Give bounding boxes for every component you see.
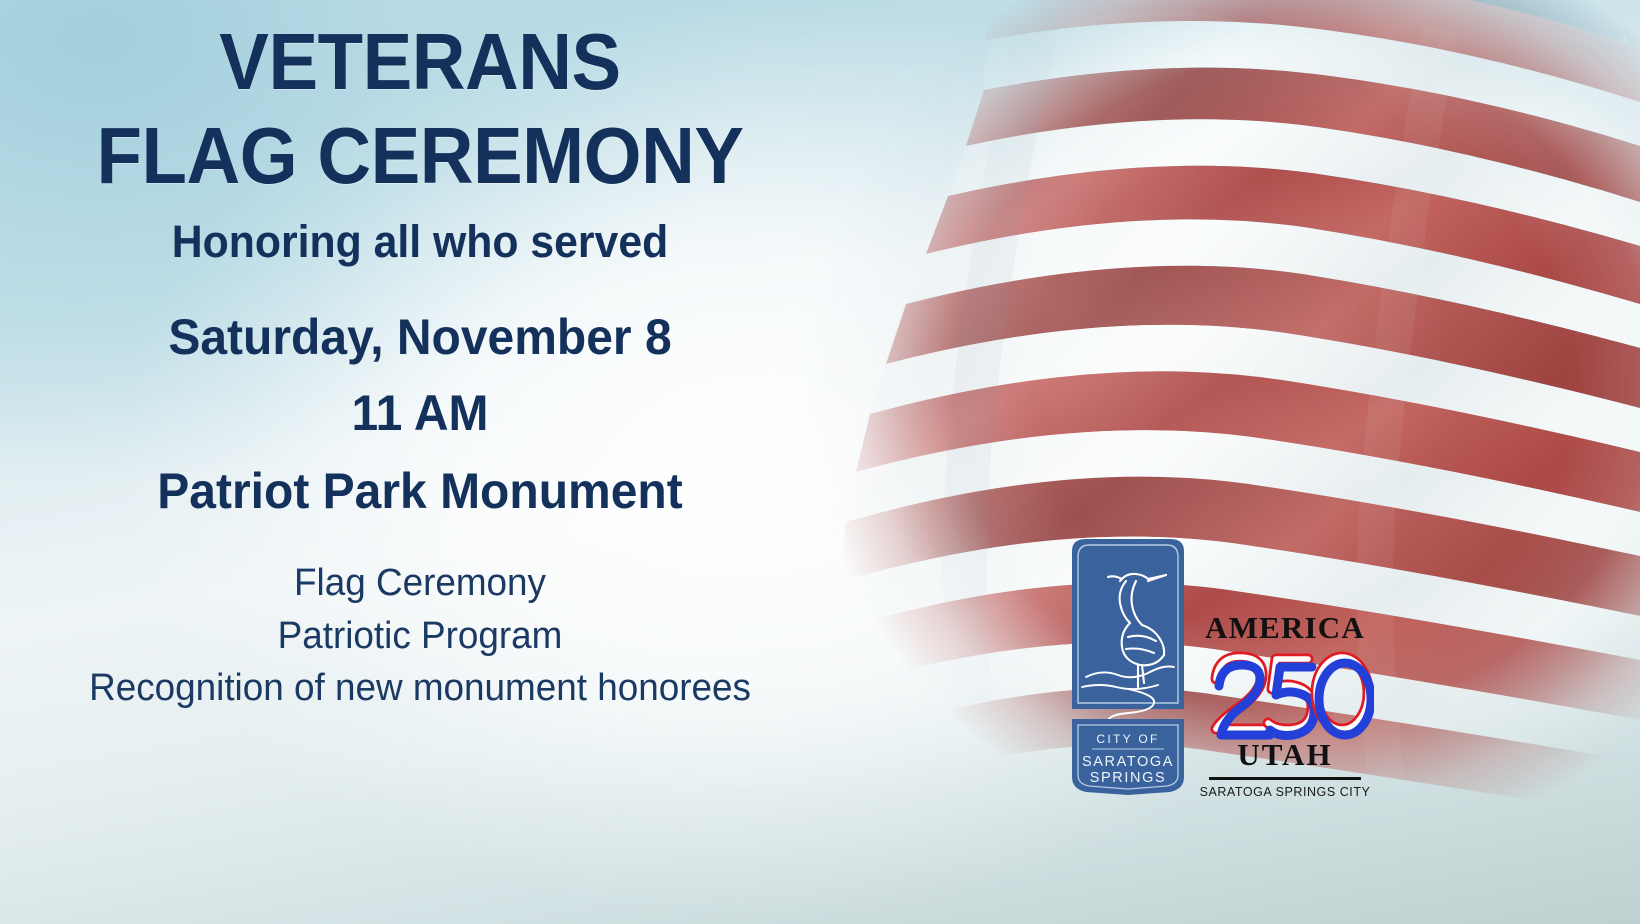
- city-logo-line3: SPRINGS: [1090, 770, 1166, 786]
- america-250-utah-logo: AMERICA UTAH: [1196, 612, 1374, 810]
- program-list: Flag Ceremony Patriotic Program Recognit…: [0, 557, 840, 714]
- city-logo-line2: SARATOGA: [1082, 754, 1174, 770]
- tagline-honoring: Honoring all who served: [21, 218, 819, 265]
- program-item: Flag Ceremony: [13, 557, 828, 609]
- flyer-text-block: VETERANS FLAG CEREMONY Honoring all who …: [0, 0, 840, 924]
- program-item: Patriotic Program: [13, 610, 828, 662]
- america250-state-utah: UTAH: [1196, 739, 1374, 770]
- america250-numeral-mark: [1196, 645, 1374, 741]
- event-date: Saturday, November 8: [17, 309, 823, 365]
- america250-tagline: SARATOGA SPRINGS CITY: [1196, 785, 1374, 799]
- program-item: Recognition of new monument honorees: [13, 662, 828, 714]
- city-of-saratoga-springs-logo: CITY OF SARATOGA SPRINGS: [1070, 537, 1186, 795]
- american-flag-photo: [740, 0, 1640, 870]
- america250-divider-rule: [1209, 777, 1361, 780]
- city-logo-line1: CITY OF: [1096, 732, 1159, 746]
- headline-veterans: VETERANS: [29, 22, 810, 102]
- veterans-flag-ceremony-flyer: VETERANS FLAG CEREMONY Honoring all who …: [0, 0, 1640, 924]
- event-location: Patriot Park Monument: [17, 463, 823, 519]
- america250-word-america: AMERICA: [1196, 612, 1374, 643]
- event-time: 11 AM: [17, 385, 823, 441]
- headline-flag-ceremony: FLAG CEREMONY: [29, 116, 810, 196]
